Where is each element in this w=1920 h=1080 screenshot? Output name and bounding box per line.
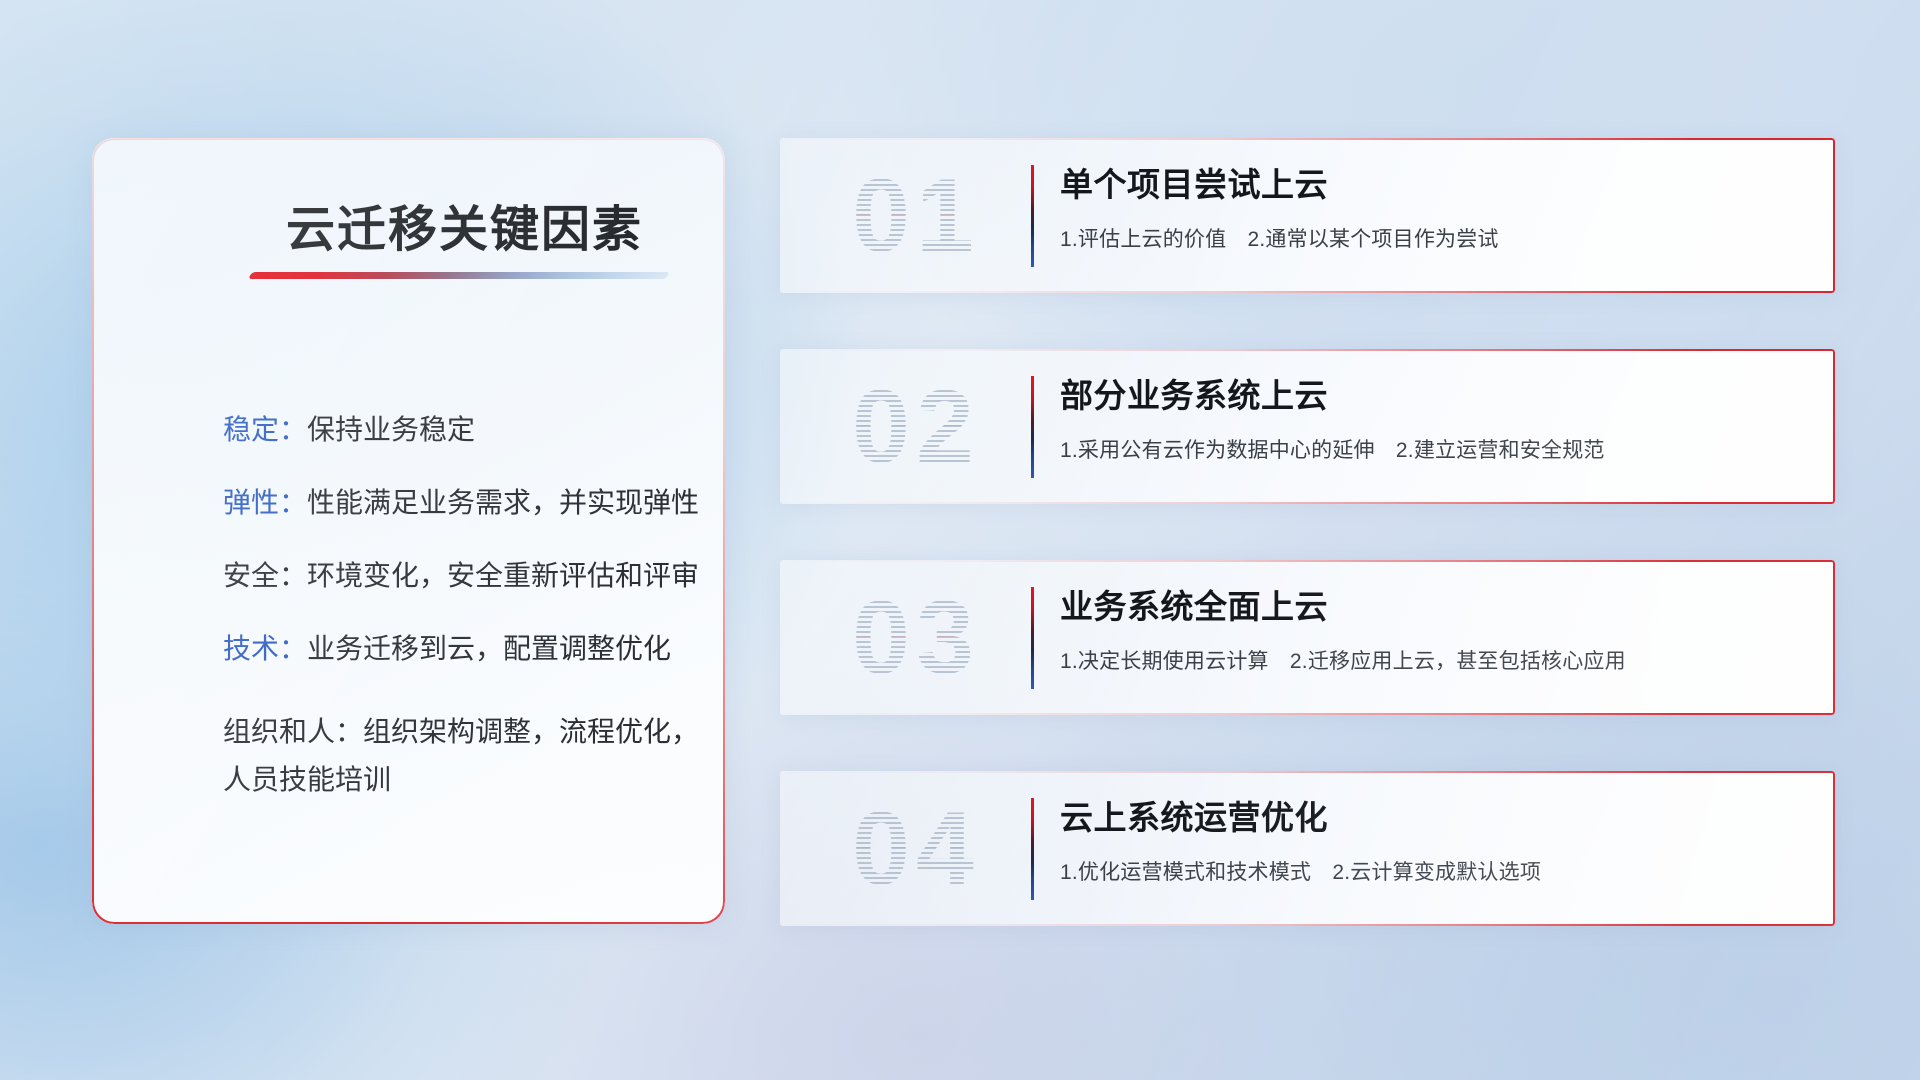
step-heading: 单个项目尝试上云 bbox=[1060, 158, 1807, 206]
list-item[interactable]: 04 云上系统运营优化 1.优化运营模式和技术模式 2.云计算变成默认选项 bbox=[780, 771, 1835, 926]
step-body: 部分业务系统上云 1.采用公有云作为数据中心的延伸 2.建立运营和安全规范 bbox=[1060, 369, 1807, 464]
list-item: 安全：环境变化，安全重新评估和评审 bbox=[223, 562, 703, 590]
list-item[interactable]: 02 部分业务系统上云 1.采用公有云作为数据中心的延伸 2.建立运营和安全规范 bbox=[780, 349, 1835, 504]
factor-label: 安全： bbox=[223, 560, 307, 591]
step-number: 01 bbox=[816, 154, 1016, 278]
list-item[interactable]: 01 单个项目尝试上云 1.评估上云的价值 2.通常以某个项目作为尝试 bbox=[780, 138, 1835, 293]
factor-text: 保持业务稳定 bbox=[307, 414, 475, 445]
step-heading: 部分业务系统上云 bbox=[1060, 369, 1807, 417]
slide-canvas: 云迁移关键因素 稳定：保持业务稳定 弹性：性能满足业务需求，并实现弹性 安全：环… bbox=[0, 0, 1920, 1080]
list-item: 弹性：性能满足业务需求，并实现弹性 bbox=[223, 489, 703, 517]
step-body: 单个项目尝试上云 1.评估上云的价值 2.通常以某个项目作为尝试 bbox=[1060, 158, 1807, 253]
step-accent-bar bbox=[1031, 587, 1034, 689]
step-body: 云上系统运营优化 1.优化运营模式和技术模式 2.云计算变成默认选项 bbox=[1060, 791, 1807, 886]
list-item: 技术：业务迁移到云，配置调整优化 bbox=[223, 635, 703, 663]
step-heading: 业务系统全面上云 bbox=[1060, 580, 1807, 628]
step-number: 02 bbox=[816, 365, 1016, 489]
list-item: 稳定：保持业务稳定 bbox=[223, 416, 703, 444]
page-title: 云迁移关键因素 bbox=[286, 190, 643, 261]
factor-text: 业务迁移到云，配置调整优化 bbox=[307, 633, 671, 664]
factor-text: 性能满足业务需求，并实现弹性 bbox=[307, 487, 699, 518]
key-factors-panel: 云迁移关键因素 稳定：保持业务稳定 弹性：性能满足业务需求，并实现弹性 安全：环… bbox=[92, 138, 725, 924]
step-number: 03 bbox=[816, 576, 1016, 700]
factor-label: 稳定： bbox=[223, 414, 307, 445]
step-description: 1.评估上云的价值 2.通常以某个项目作为尝试 bbox=[1060, 223, 1807, 253]
step-accent-bar bbox=[1031, 165, 1034, 267]
step-description: 1.决定长期使用云计算 2.迁移应用上云，甚至包括核心应用 bbox=[1060, 645, 1807, 675]
step-description: 1.优化运营模式和技术模式 2.云计算变成默认选项 bbox=[1060, 856, 1807, 886]
factor-label: 技术： bbox=[223, 633, 307, 664]
step-accent-bar bbox=[1031, 376, 1034, 478]
migration-steps-list: 01 单个项目尝试上云 1.评估上云的价值 2.通常以某个项目作为尝试 02 部… bbox=[780, 138, 1835, 926]
factor-text: 环境变化，安全重新评估和评审 bbox=[307, 560, 699, 591]
list-item: 组织和人：组织架构调整，流程优化，人员技能培训 bbox=[223, 708, 703, 804]
title-underline-rule bbox=[248, 272, 670, 279]
step-accent-bar bbox=[1031, 798, 1034, 900]
factor-label: 组织和人： bbox=[223, 716, 363, 747]
step-description: 1.采用公有云作为数据中心的延伸 2.建立运营和安全规范 bbox=[1060, 434, 1807, 464]
list-item[interactable]: 03 业务系统全面上云 1.决定长期使用云计算 2.迁移应用上云，甚至包括核心应… bbox=[780, 560, 1835, 715]
step-heading: 云上系统运营优化 bbox=[1060, 791, 1807, 839]
factor-label: 弹性： bbox=[223, 487, 307, 518]
step-number: 04 bbox=[816, 787, 1016, 911]
step-body: 业务系统全面上云 1.决定长期使用云计算 2.迁移应用上云，甚至包括核心应用 bbox=[1060, 580, 1807, 675]
factor-list: 稳定：保持业务稳定 弹性：性能满足业务需求，并实现弹性 安全：环境变化，安全重新… bbox=[223, 416, 703, 804]
